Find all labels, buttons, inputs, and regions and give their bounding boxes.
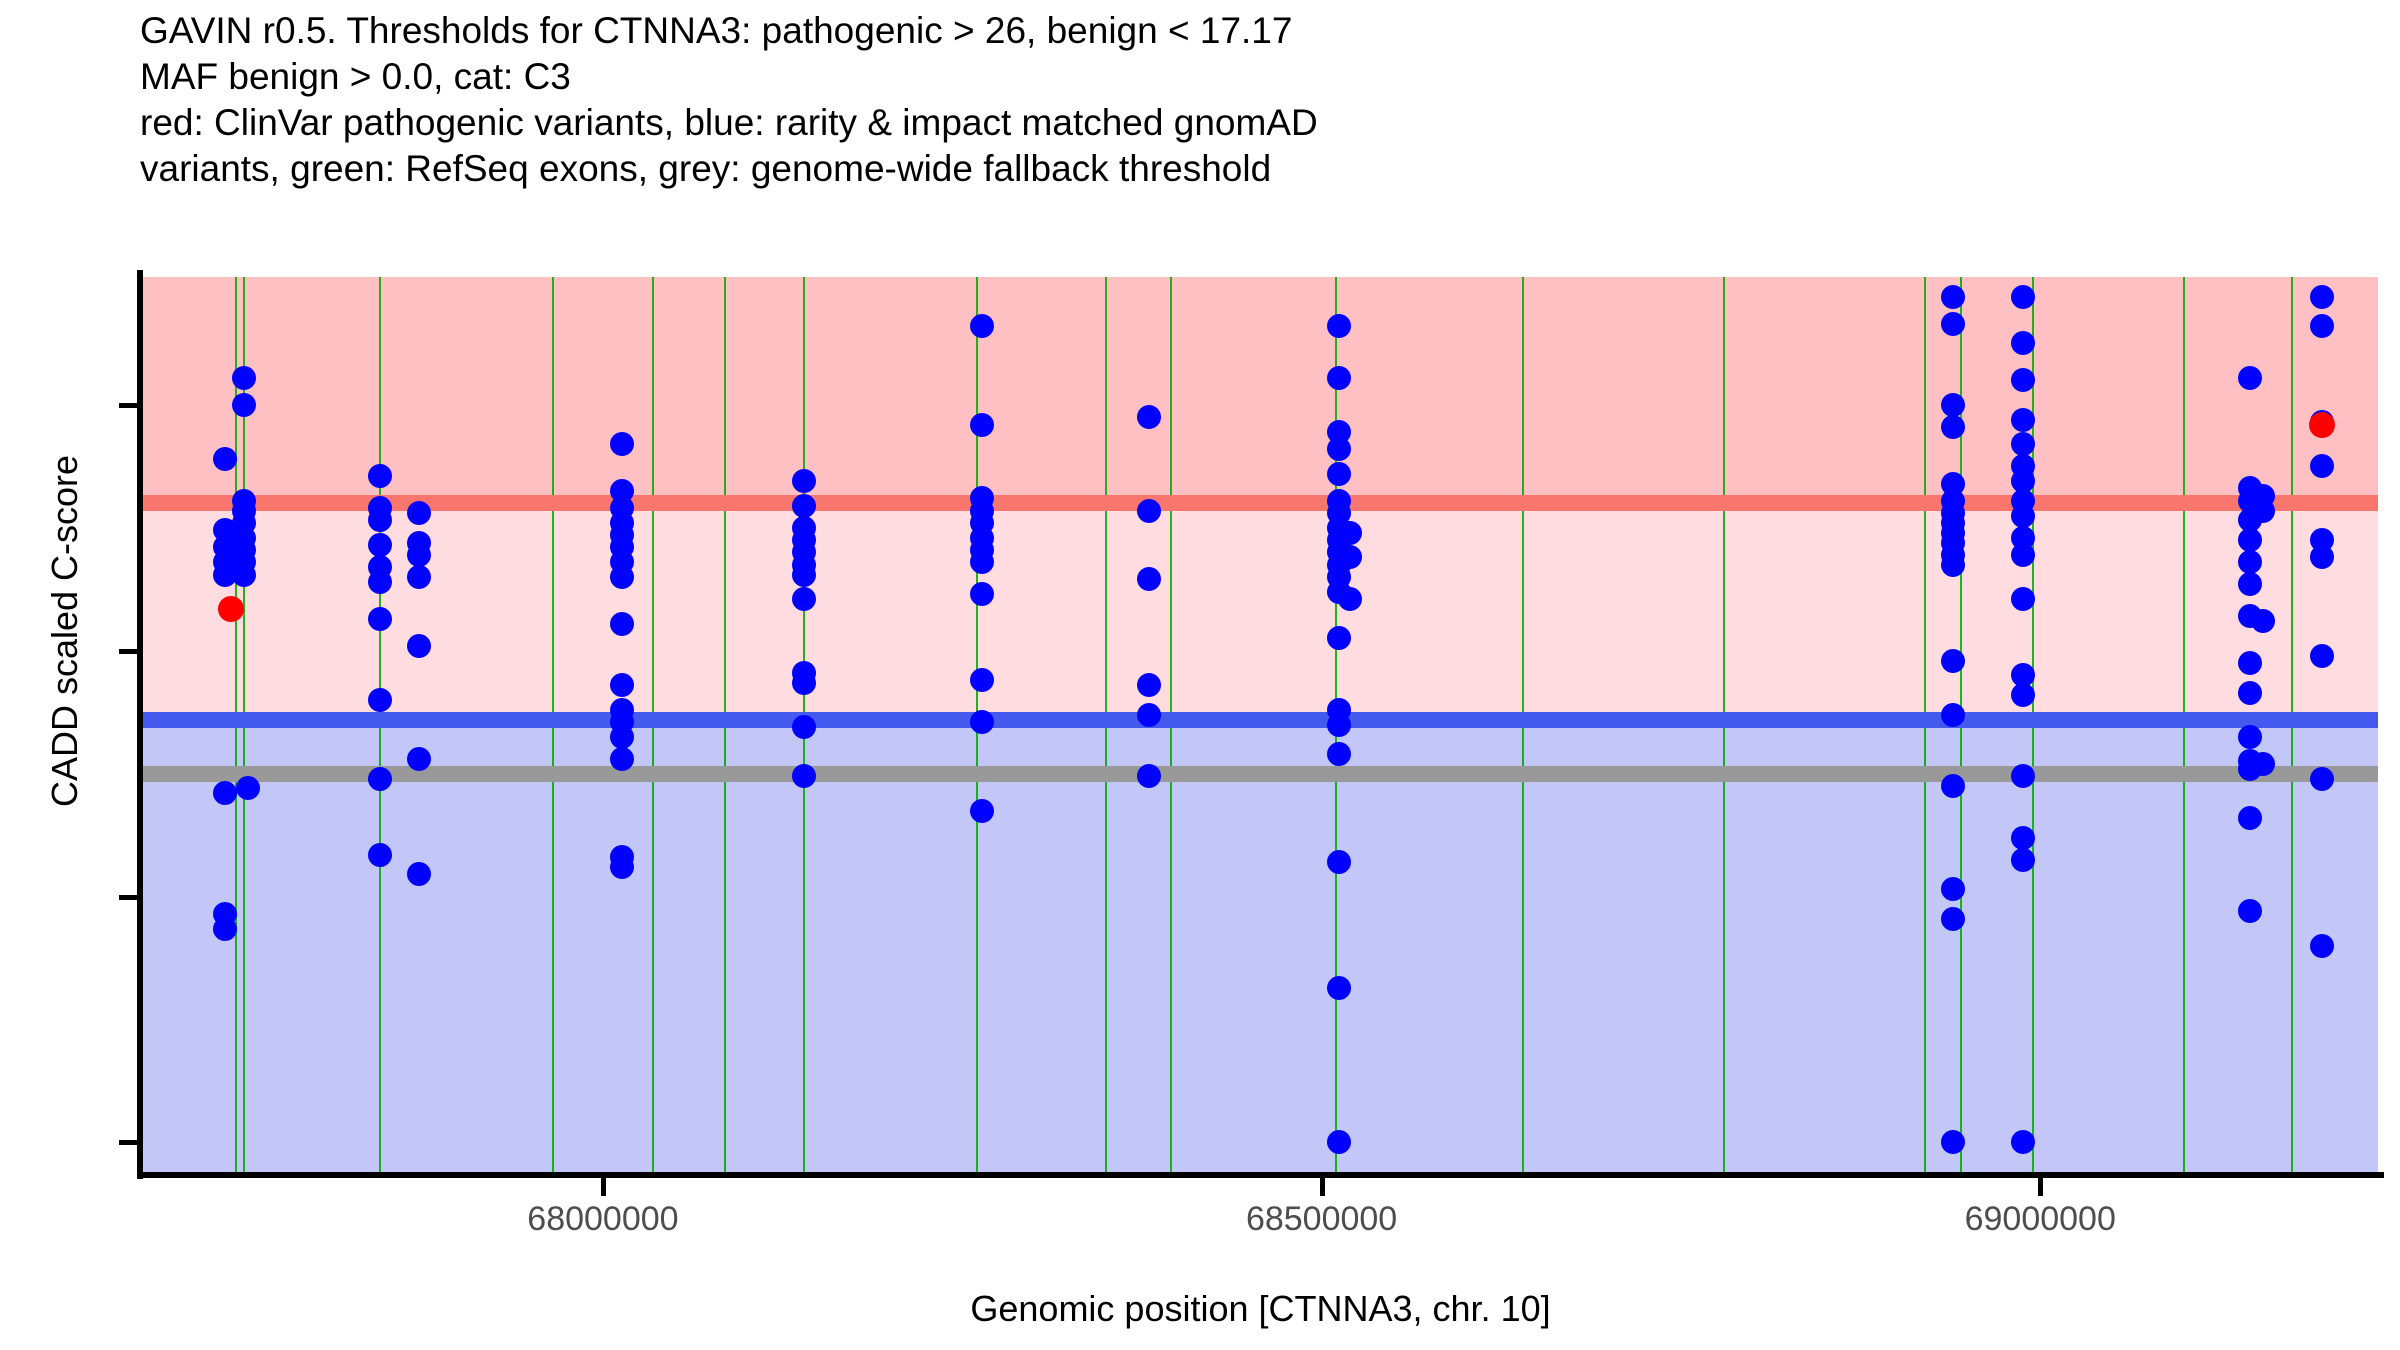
clinvar-point-1	[2309, 412, 2335, 438]
gnomad-point-149	[2238, 681, 2262, 705]
gnomad-point-101	[1338, 521, 1362, 545]
gnomad-point-135	[2011, 683, 2035, 707]
y-tick-10	[119, 895, 137, 900]
gnomad-point-105	[1941, 312, 1965, 336]
threshold-line-genome-wide-fallback	[143, 766, 2378, 782]
gnomad-point-126	[2011, 432, 2035, 456]
plot-panel	[143, 277, 2378, 1172]
gnomad-point-167	[2310, 934, 2334, 958]
clinvar-point-0	[218, 596, 244, 622]
plot-title: GAVIN r0.5. Thresholds for CTNNA3: patho…	[140, 8, 2340, 192]
benign-band	[143, 720, 2378, 1172]
title-line-2: MAF benign > 0.0, cat: C3	[140, 54, 2340, 100]
gnomad-point-0	[213, 447, 237, 471]
gnomad-point-125	[2011, 408, 2035, 432]
y-tick-0	[119, 1140, 137, 1145]
gnomad-point-107	[1941, 415, 1965, 439]
gnomad-point-60	[792, 671, 816, 695]
y-tick-30	[119, 403, 137, 408]
gnomad-point-98	[1327, 850, 1351, 874]
gnomad-point-165	[2310, 644, 2334, 668]
gnomad-point-159	[2310, 285, 2334, 309]
gnomad-point-119	[1941, 877, 1965, 901]
threshold-line-benign	[143, 712, 2378, 728]
gnomad-point-81	[1327, 314, 1351, 338]
gnomad-point-153	[2238, 806, 2262, 830]
gnomad-point-28	[407, 501, 431, 525]
title-line-3: red: ClinVar pathogenic variants, blue: …	[140, 100, 2340, 146]
gnomad-point-47	[610, 725, 634, 749]
gnomad-point-33	[407, 747, 431, 771]
gnomad-point-25	[368, 688, 392, 712]
pathogenic-band	[143, 277, 2378, 503]
plot-root: GAVIN r0.5. Thresholds for CTNNA3: patho…	[0, 0, 2400, 1350]
gnomad-point-76	[1137, 499, 1161, 523]
x-axis-title: Genomic position [CTNNA3, chr. 10]	[143, 1288, 2378, 1330]
gnomad-point-31	[407, 565, 431, 589]
vus-band	[143, 503, 2378, 720]
gnomad-point-166	[2310, 767, 2334, 791]
x-tick-68500000	[1320, 1178, 1325, 1196]
gnomad-point-96	[1327, 713, 1351, 737]
x-tick-label-68000000: 68000000	[453, 1200, 753, 1239]
gnomad-point-64	[970, 413, 994, 437]
gnomad-point-16	[232, 563, 256, 587]
x-tick-68000000	[601, 1178, 606, 1196]
gnomad-point-48	[610, 747, 634, 771]
gnomad-point-43	[610, 612, 634, 636]
x-tick-69000000	[2038, 1178, 2043, 1196]
gnomad-point-84	[1327, 437, 1351, 461]
gnomad-point-120	[1941, 907, 1965, 931]
gnomad-point-57	[792, 563, 816, 587]
gnomad-point-24	[368, 607, 392, 631]
gnomad-point-32	[407, 634, 431, 658]
gnomad-point-148	[2238, 651, 2262, 675]
gnomad-point-8	[232, 366, 256, 390]
gnomad-point-150	[2238, 725, 2262, 749]
gnomad-point-85	[1327, 462, 1351, 486]
gnomad-point-79	[1137, 703, 1161, 727]
gnomad-point-118	[1941, 774, 1965, 798]
gnomad-point-115	[1941, 553, 1965, 577]
gnomad-point-132	[2011, 543, 2035, 567]
gnomad-point-52	[792, 494, 816, 518]
gnomad-point-144	[2238, 528, 2262, 552]
gnomad-point-133	[2011, 587, 2035, 611]
x-tick-label-69000000: 69000000	[1890, 1200, 2190, 1239]
gnomad-point-74	[970, 799, 994, 823]
gnomad-point-35	[610, 432, 634, 456]
gnomad-point-26	[368, 767, 392, 791]
x-axis-line	[137, 1172, 2384, 1178]
title-line-1: GAVIN r0.5. Thresholds for CTNNA3: patho…	[140, 8, 2340, 54]
gnomad-point-140	[2238, 366, 2262, 390]
gnomad-point-104	[1941, 285, 1965, 309]
gnomad-point-158	[2251, 752, 2275, 776]
gnomad-point-97	[1327, 742, 1351, 766]
gnomad-point-42	[610, 565, 634, 589]
gnomad-point-160	[2310, 314, 2334, 338]
gnomad-point-30	[407, 543, 431, 567]
gnomad-point-27	[368, 843, 392, 867]
gnomad-point-7	[213, 917, 237, 941]
gnomad-point-50	[610, 855, 634, 879]
gnomad-point-117	[1941, 703, 1965, 727]
gnomad-point-121	[1941, 1130, 1965, 1154]
threshold-line-pathogenic	[143, 495, 2378, 511]
gnomad-point-116	[1941, 649, 1965, 673]
gnomad-point-106	[1941, 393, 1965, 417]
gnomad-point-21	[368, 533, 392, 557]
y-axis-line	[137, 270, 143, 1179]
y-axis-title: CADD scaled C-score	[44, 181, 86, 1081]
gnomad-point-23	[368, 570, 392, 594]
gnomad-point-136	[2011, 764, 2035, 788]
gnomad-point-44	[610, 673, 634, 697]
gnomad-point-99	[1327, 976, 1351, 1000]
gnomad-point-130	[2011, 504, 2035, 528]
x-tick-label-68500000: 68500000	[1172, 1200, 1472, 1239]
gnomad-point-138	[2011, 848, 2035, 872]
gnomad-point-61	[792, 715, 816, 739]
gnomad-point-9	[232, 393, 256, 417]
gnomad-point-156	[2251, 499, 2275, 523]
title-line-4: variants, green: RefSeq exons, grey: gen…	[140, 146, 2340, 192]
gnomad-point-82	[1327, 366, 1351, 390]
gnomad-point-137	[2011, 826, 2035, 850]
y-tick-20	[119, 649, 137, 654]
gnomad-point-122	[2011, 285, 2035, 309]
